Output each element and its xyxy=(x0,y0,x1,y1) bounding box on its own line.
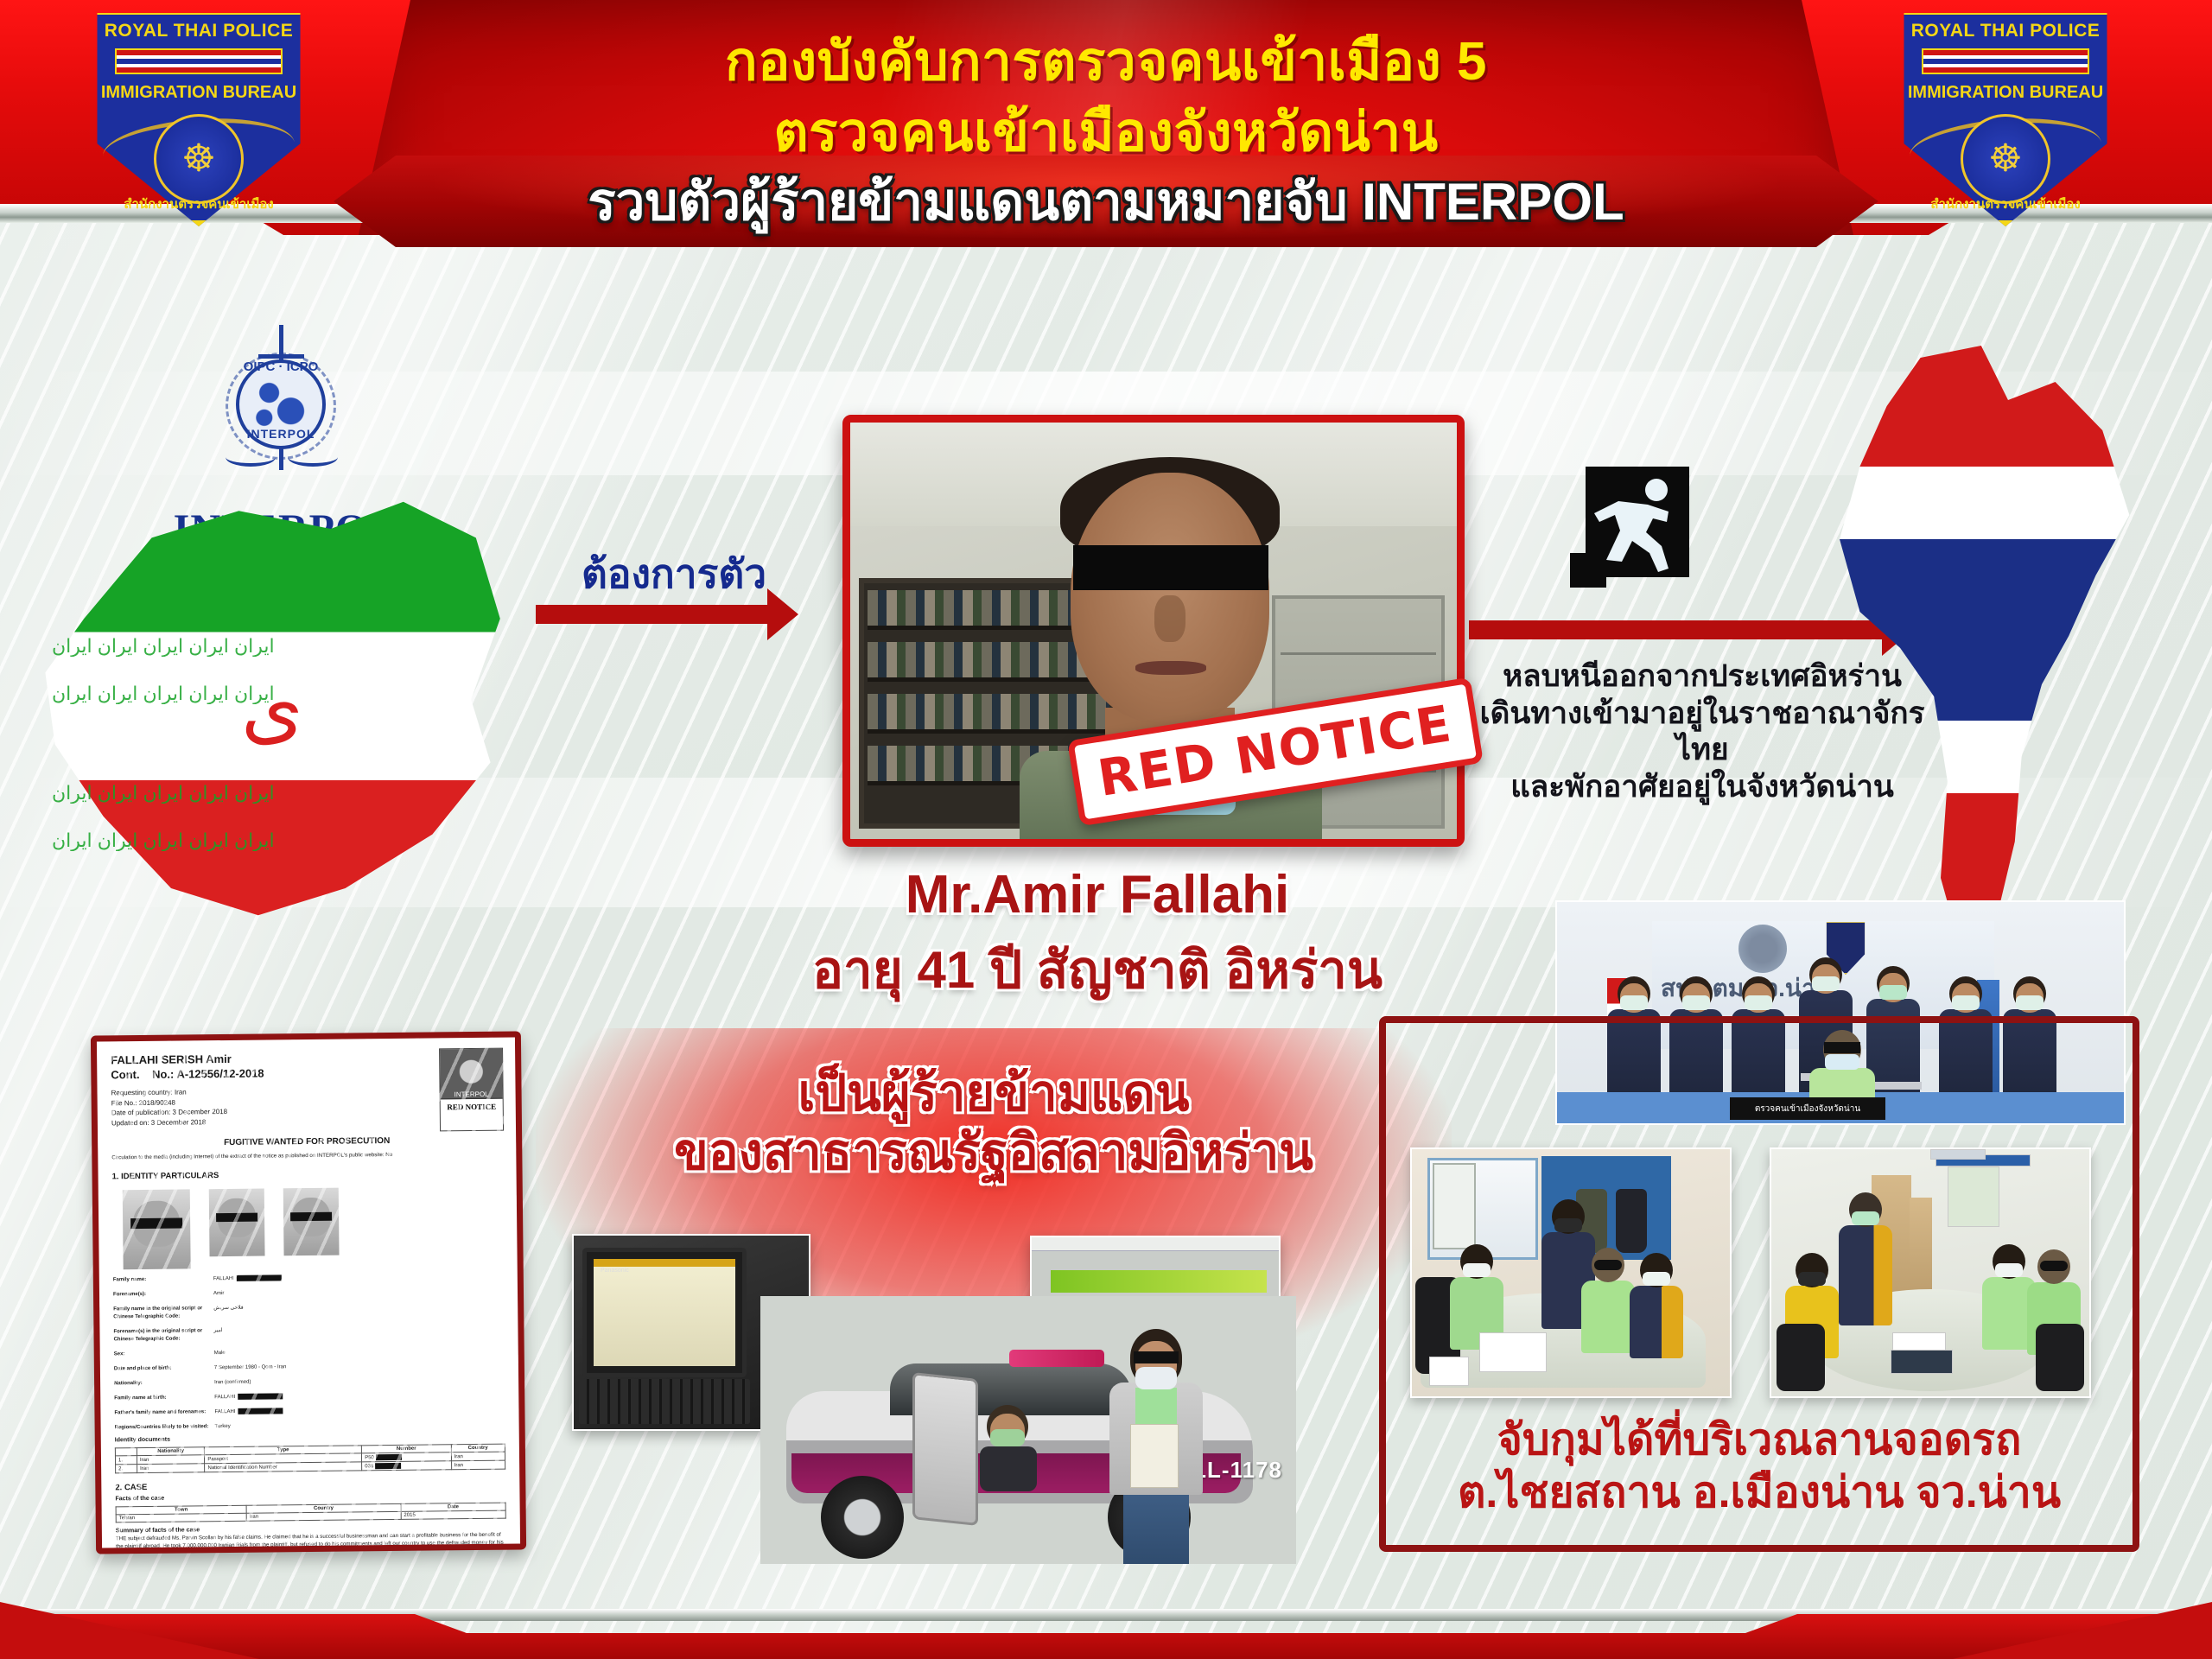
emblem-top-text: ROYAL THAI POLICE xyxy=(1897,21,2113,41)
doc-field-row: Sex:Male xyxy=(114,1347,505,1359)
notebook-on-desk xyxy=(1429,1357,1469,1386)
running-man-exit-icon xyxy=(1586,467,1689,577)
page-subtitle: รวบตัวผู้ร้ายข้ามแดนตามหมายจับ INTERPOL xyxy=(334,162,1878,240)
poster-canvas: กองบังคับการตรวจคนเข้าเมือง 5 ตรวจคนเข้า… xyxy=(0,0,2212,1659)
doc-field-key: Regions/Countries likely to be visited: xyxy=(115,1423,215,1432)
doc-field-row: Family name in the original script or Ch… xyxy=(113,1302,504,1322)
officer-face-mask xyxy=(1952,995,1980,1010)
flow-arrow-1 xyxy=(536,605,769,624)
center-caption: เป็นผู้ร้ายข้ามแดน ของสาธารณรัฐอิสลามอิห… xyxy=(553,1065,1434,1183)
doc-identity-fields: Family name:FALLAHIForename(s):AmirFamil… xyxy=(113,1273,505,1433)
interpol-ring-bottom-text: INTERPOL xyxy=(220,427,341,441)
doc-field-row: Father's family name and forenames:FALLA… xyxy=(114,1406,505,1418)
doc-field-value: 7 September 1980 - Qom - Iran xyxy=(214,1362,505,1373)
officer-face-mask xyxy=(2016,995,2044,1010)
suspect-face-mask xyxy=(1135,1367,1177,1389)
person-torso xyxy=(1839,1225,1892,1325)
suspect-mouth xyxy=(1135,661,1206,675)
redaction-bar xyxy=(238,1408,283,1415)
laptop-screen xyxy=(594,1259,735,1366)
notice-board xyxy=(1433,1163,1476,1249)
doc-mugshot xyxy=(283,1188,340,1256)
officer-face-mask xyxy=(1879,985,1907,1000)
footer xyxy=(0,1602,2212,1659)
emblem-mid-text: IMMIGRATION BUREAU xyxy=(91,83,307,103)
face-mask xyxy=(1463,1263,1491,1277)
doc-identity-documents-table: NationalityTypeNumberCountry 1.IranPassp… xyxy=(115,1444,505,1474)
face-mask xyxy=(1554,1218,1582,1232)
eye-censor-bar xyxy=(1594,1260,1622,1270)
doc-field-row: Family name:FALLAHI xyxy=(113,1273,504,1285)
laptop-brand-label: Panasonic xyxy=(601,1268,629,1274)
table-cell: Tehran xyxy=(116,1514,246,1523)
interpol-logo-icon: OIPC · ICPO INTERPOL xyxy=(220,320,341,493)
arrest-caption-line-2: ต.ไชยสถาน อ.เมืองน่าน จว.น่าน xyxy=(1388,1466,2131,1519)
doc-field-value: Male xyxy=(214,1347,505,1358)
hanging-uniform xyxy=(1616,1189,1647,1253)
flow-arrow-2 xyxy=(1469,620,1884,639)
redaction-bar xyxy=(238,1393,283,1400)
escape-line-2: เดินทางเข้ามาอยู่ในราชอาณาจักรไทย xyxy=(1460,696,1944,769)
shelf-row xyxy=(868,694,1109,734)
suspect-standing xyxy=(1104,1329,1208,1560)
doc-red-notice-badge: INTERPOL RED NOTICE xyxy=(439,1048,504,1132)
rugged-laptop: Panasonic xyxy=(582,1248,747,1377)
garuda-seal-icon xyxy=(1738,925,1787,973)
table-cell: Iran xyxy=(451,1460,505,1470)
doc-field-row: Nationality:Iran (confirmed) xyxy=(114,1376,505,1389)
center-caption-line-2: ของสาธารณรัฐอิสลามอิหร่าน xyxy=(553,1123,1434,1182)
cabinet-line xyxy=(1281,652,1436,655)
officer-in-car xyxy=(976,1405,1040,1488)
officer-standing xyxy=(1839,1192,1892,1325)
doc-field-value: امیر xyxy=(213,1325,504,1344)
doc-facts-title: Facts of the case xyxy=(115,1492,505,1503)
table-cell: 038 xyxy=(362,1461,451,1471)
iran-map-script-1: ایران ایران ایران ایران ایران xyxy=(52,635,484,658)
center-caption-line-1: เป็นผู้ร้ายข้ามแดน xyxy=(553,1065,1434,1123)
office-partition xyxy=(1910,1198,1932,1303)
table-cell: National Identification Number xyxy=(205,1462,362,1472)
doc-section-2: 2. CASE xyxy=(115,1479,505,1493)
police-emblem-right-icon: ROYAL THAI POLICE IMMIGRATION BUREAU ☸ ส… xyxy=(1897,9,2113,226)
iran-emblem-icon: ی xyxy=(233,672,311,767)
arrest-vehicle-photo: CALL-1178 xyxy=(760,1296,1296,1564)
doc-badge-notice: RED NOTICE xyxy=(441,1099,503,1113)
doc-field-row: Regions/Countries likely to be visited:T… xyxy=(115,1421,505,1433)
doc-facts-table: TownCountryDate TehranIran2015 xyxy=(116,1503,506,1523)
doc-field-key: Nationality: xyxy=(114,1379,214,1388)
table-header-cell xyxy=(115,1448,137,1456)
table-nameplate: ตรวจคนเข้าเมืองจังหวัดน่าน xyxy=(1730,1097,1885,1120)
police-lightbar xyxy=(1009,1350,1104,1367)
officer-face-mask xyxy=(1620,995,1648,1010)
eye-censor-bar xyxy=(1134,1351,1179,1363)
car-open-door xyxy=(912,1372,978,1526)
doc-field-row: Forename(s):Amir xyxy=(113,1287,504,1300)
wall-map xyxy=(1948,1166,1999,1227)
officer-face-mask xyxy=(1812,976,1840,991)
face-mask xyxy=(1643,1272,1670,1286)
doc-mugshot xyxy=(123,1189,191,1269)
arrest-location-caption: จับกุมได้ที่บริเวณลานจอดรถ ต.ไชยสถาน อ.เ… xyxy=(1388,1414,2131,1519)
doc-field-key: Family name: xyxy=(113,1275,213,1284)
office-chair xyxy=(2036,1324,2084,1391)
officer-male xyxy=(1630,1253,1683,1357)
app-header-bar xyxy=(1051,1270,1267,1293)
doc-id-docs-title: Identity documents xyxy=(115,1433,505,1444)
table-cell: 2015 xyxy=(401,1511,505,1520)
emblem-top-text: ROYAL THAI POLICE xyxy=(91,21,307,41)
escape-line-1: หลบหนีออกจากประเทศอิหร่าน xyxy=(1460,658,1944,696)
face-mask xyxy=(1798,1272,1826,1286)
suspect-jeans xyxy=(1123,1488,1189,1564)
interview-photo-2 xyxy=(1770,1147,2091,1398)
table-cell: Iran xyxy=(137,1464,205,1473)
emblem-bottom-text: สำนักงานตรวจคนเข้าเมือง xyxy=(91,194,307,214)
doc-field-key: Family name in the original script or Ch… xyxy=(113,1305,213,1321)
iran-map-script-3: ایران ایران ایران ایران ایران xyxy=(52,782,484,804)
escape-description: หลบหนีออกจากประเทศอิหร่าน เดินทางเข้ามาอ… xyxy=(1460,658,1944,806)
interpol-ring-top-text: OIPC · ICPO xyxy=(220,359,341,374)
suspect-nose xyxy=(1154,595,1185,642)
paper-on-table xyxy=(1892,1332,1946,1351)
table-cell: 1. xyxy=(115,1456,137,1465)
iran-map-script-4: ایران ایران ایران ایران ایران xyxy=(52,829,484,852)
doc-field-value: FALLAHI xyxy=(213,1273,504,1284)
doc-mugshot-row xyxy=(123,1186,504,1270)
doc-field-value: FALLAHI xyxy=(214,1391,505,1402)
doc-field-row: Date and place of birth:7 September 1980… xyxy=(114,1362,505,1374)
red-notice-document: FALLAHI SERISH Amir Cont. No.: A-12556/1… xyxy=(91,1031,526,1554)
arrest-caption-line-1: จับกุมได้ที่บริเวณลานจอดรถ xyxy=(1388,1414,2131,1466)
browser-titlebar xyxy=(1032,1237,1279,1251)
officer-face-mask xyxy=(990,1429,1025,1446)
eye-censor-bar xyxy=(1073,545,1268,590)
emblem-bottom-text: สำนักงานตรวจคนเข้าเมือง xyxy=(1897,194,2113,214)
doc-field-key: Forename(s): xyxy=(113,1290,213,1299)
shelf-row xyxy=(868,642,1109,682)
eye-censor-bar xyxy=(1824,1042,1860,1053)
wanted-label: ต้องการตัว xyxy=(544,543,804,606)
redaction-bar xyxy=(376,1454,402,1460)
eye-censor-bar xyxy=(2040,1261,2068,1271)
doc-badge-label: INTERPOL xyxy=(454,1090,489,1098)
doc-badge-logo-icon: INTERPOL xyxy=(440,1049,503,1100)
police-emblem-left-icon: ROYAL THAI POLICE IMMIGRATION BUREAU ☸ ส… xyxy=(91,9,307,226)
suspect-interviewed xyxy=(1581,1248,1635,1351)
interpol-scale-right xyxy=(288,448,338,467)
air-conditioner xyxy=(1930,1149,1986,1160)
emblem-mid-text: IMMIGRATION BUREAU xyxy=(1897,83,2113,103)
table-cell: Iran xyxy=(246,1512,401,1522)
doc-section-1: 1. IDENTITY PARTICULARS xyxy=(112,1168,503,1182)
screen-title-bar xyxy=(594,1259,735,1267)
doc-field-value: Iran (confirmed) xyxy=(214,1376,505,1388)
running-man-glyph xyxy=(1586,467,1689,577)
escape-line-3: และพักอาศัยอยู่ในจังหวัดน่าน xyxy=(1460,769,1944,806)
interview-photo-1 xyxy=(1410,1147,1732,1398)
doc-field-value: FALLAHI xyxy=(214,1406,505,1417)
thailand-map-graphic xyxy=(1806,346,2143,950)
interpol-scale-left xyxy=(226,448,276,467)
car-wheel xyxy=(821,1476,904,1559)
thai-flag-icon xyxy=(1922,48,2089,74)
thai-flag-icon xyxy=(115,48,283,74)
redaction-bar xyxy=(237,1274,282,1281)
subject-info-block: Mr.Amir Fallahi อายุ 41 ปี สัญชาติ อิหร่… xyxy=(743,864,1452,1011)
table-cell: 2. xyxy=(116,1465,137,1473)
doc-summary-text: THE subject defrauded Ms. Parvin Scollan… xyxy=(116,1532,506,1554)
table-cell: Iran xyxy=(451,1452,505,1461)
doc-control-no: A-12556/12-2018 xyxy=(176,1067,264,1081)
table-body: 1.IranPassportP50Iran2.IranNational Iden… xyxy=(115,1452,505,1473)
doc-field-key: Father's family name and forenames: xyxy=(114,1408,214,1417)
press-conference-photo: สปก.ตม.จว.น่าน xyxy=(1555,900,2126,1125)
doc-headline: FUGITIVE WANTED FOR PROSECUTION xyxy=(111,1135,502,1149)
officer-face-mask xyxy=(1682,995,1710,1010)
face-mask xyxy=(1852,1211,1879,1225)
doc-field-key: Forename(s) in the original script or Ch… xyxy=(113,1327,213,1344)
emblem-seal-icon: ☸ xyxy=(1961,114,2050,204)
officer-face-mask xyxy=(1745,995,1772,1010)
person-torso xyxy=(1630,1286,1683,1358)
officer-torso xyxy=(980,1446,1037,1491)
person-torso xyxy=(1581,1281,1635,1353)
doc-field-key: Sex: xyxy=(114,1350,214,1358)
emblem-seal-icon: ☸ xyxy=(154,114,244,204)
doc-field-value: فلاحی سریش xyxy=(213,1302,504,1321)
subject-detail: อายุ 41 ปี สัญชาติ อิหร่าน xyxy=(743,929,1452,1011)
doc-mugshot xyxy=(209,1189,265,1257)
document-on-desk xyxy=(1479,1332,1547,1372)
office-chair xyxy=(1777,1324,1825,1391)
laptop-keyboard xyxy=(579,1379,750,1424)
face-mask xyxy=(1995,1263,2023,1277)
doc-field-row: Family name at birth:FALLAHI xyxy=(114,1391,505,1403)
doc-control-label: Cont. xyxy=(111,1068,139,1081)
doc-field-key: Date and place of birth: xyxy=(114,1364,214,1373)
doc-field-value: Amir xyxy=(213,1287,504,1299)
doc-field-row: Forename(s) in the original script or Ch… xyxy=(113,1325,504,1344)
suspect-face-mask xyxy=(1825,1054,1859,1070)
doc-control-no-label: No.: xyxy=(152,1068,174,1081)
subject-name: Mr.Amir Fallahi xyxy=(743,864,1452,925)
redaction-bar xyxy=(375,1463,401,1469)
doc-circulation: Circulation to the media (including Inte… xyxy=(111,1151,502,1162)
doc-field-key: Family name at birth: xyxy=(114,1394,214,1402)
doc-field-value: Turkey xyxy=(215,1421,505,1432)
folder-on-table xyxy=(1891,1350,1953,1374)
held-passport xyxy=(1130,1424,1179,1488)
